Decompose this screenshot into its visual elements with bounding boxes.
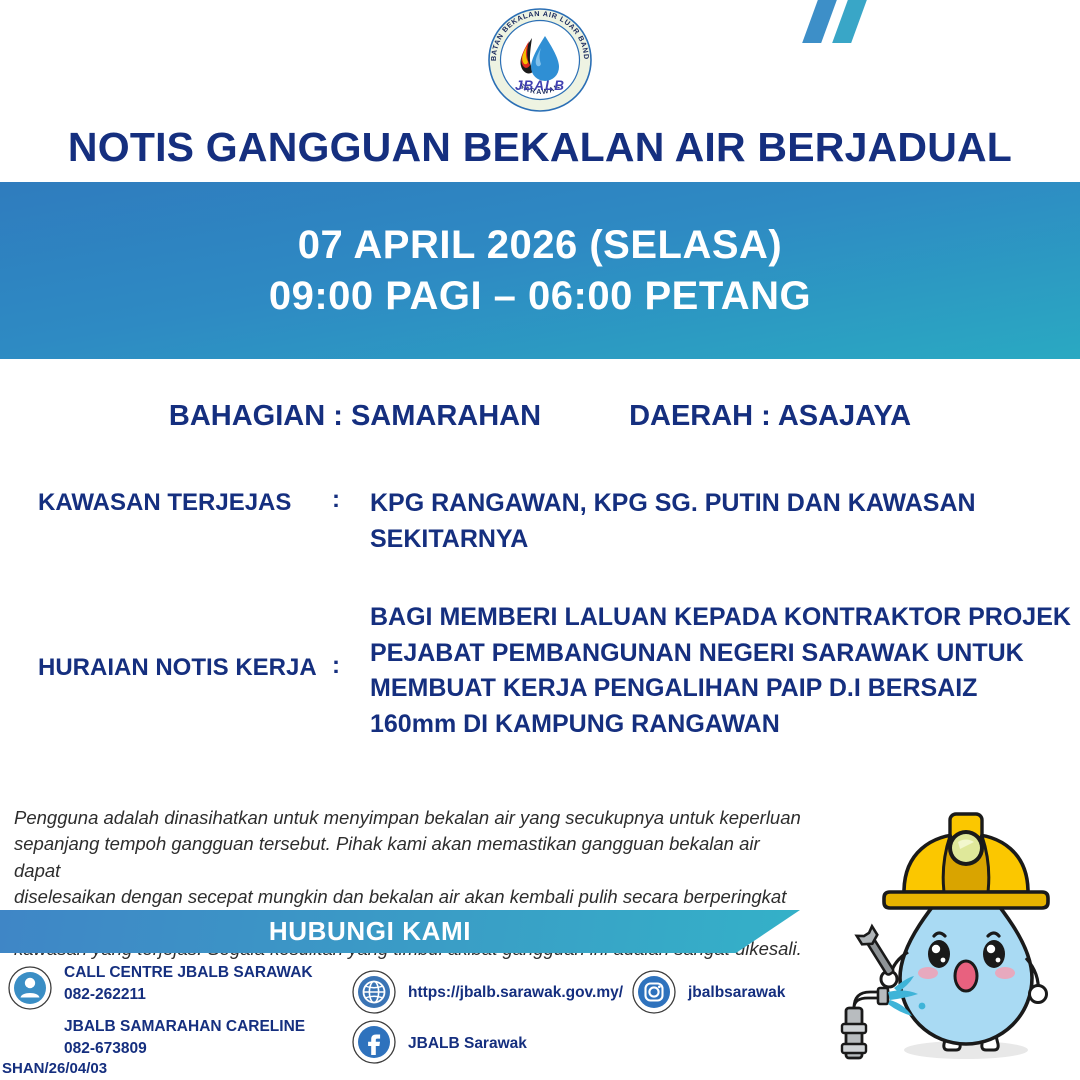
- notice-date: 07 APRIL 2026 (SELASA): [298, 223, 783, 268]
- instagram-icon[interactable]: [632, 970, 676, 1014]
- date-time-banner: 07 APRIL 2026 (SELASA) 09:00 PAGI – 06:0…: [0, 182, 1080, 359]
- water-droplet-worker-mascot: [838, 792, 1074, 1080]
- website-url[interactable]: https://jbalb.sarawak.gov.my/: [408, 982, 623, 1004]
- careline-name: JBALB SAMARAHAN CARELINE: [64, 1016, 305, 1038]
- affected-areas-line: KPG RANGAWAN, KPG SG. PUTIN DAN KAWASAN: [370, 486, 1048, 522]
- call-centre-phone[interactable]: 082-262211: [64, 984, 313, 1006]
- facebook-handle[interactable]: JBALB Sarawak: [408, 1033, 527, 1055]
- affected-areas-row: KAWASAN TERJEJAS : KPG RANGAWAN, KPG SG.…: [38, 486, 1048, 557]
- person-icon: [8, 966, 52, 1010]
- careline-phone[interactable]: 082-673809: [64, 1038, 305, 1060]
- district-label: DAERAH : ASAJAYA: [629, 400, 911, 433]
- page-title: NOTIS GANGGUAN BEKALAN AIR BERJADUAL: [0, 124, 1080, 171]
- work-description-row: HURAIAN NOTIS KERJA : BAGI MEMBERI LALUA…: [38, 600, 1048, 742]
- affected-areas-line: SEKITARNYA: [370, 522, 1048, 558]
- work-description-value: BAGI MEMBERI LALUAN KEPADA KONTRAKTOR PR…: [370, 600, 1071, 742]
- reference-code: SHAN/26/04/03: [2, 1058, 107, 1079]
- region-row: BAHAGIAN : SAMARAHAN DAERAH : ASAJAYA: [0, 400, 1080, 433]
- advisory-line: Pengguna adalah dinasihatkan untuk menyi…: [14, 805, 804, 831]
- affected-areas-value: KPG RANGAWAN, KPG SG. PUTIN DAN KAWASAN …: [370, 486, 1048, 557]
- notice-time: 09:00 PAGI – 06:00 PETANG: [269, 274, 811, 319]
- advisory-line: sepanjang tempoh gangguan tersebut. Piha…: [14, 831, 804, 884]
- globe-icon[interactable]: [352, 970, 396, 1014]
- work-description-line: PEJABAT PEMBANGUNAN NEGERI SARAWAK UNTUK: [370, 636, 1071, 672]
- facebook-icon[interactable]: [352, 1020, 396, 1064]
- work-description-line: 160mm DI KAMPUNG RANGAWAN: [370, 707, 1071, 743]
- contact-bar: HUBUNGI KAMI: [0, 910, 800, 953]
- logo-container: JABATAN BEKALAN AIR LUAR BANDAR SARAWAK …: [0, 8, 1080, 112]
- affected-areas-label: KAWASAN TERJEJAS: [38, 486, 332, 519]
- division-label: BAHAGIAN : SAMARAHAN: [169, 400, 541, 433]
- affected-areas-colon: :: [332, 486, 370, 514]
- svg-text:JBALB: JBALB: [515, 78, 565, 93]
- contact-bar-title: HUBUNGI KAMI: [0, 910, 740, 953]
- jbalb-water-droplet-logo: JABATAN BEKALAN AIR LUAR BANDAR SARAWAK …: [488, 8, 592, 112]
- work-description-line: MEMBUAT KERJA PENGALIHAN PAIP D.I BERSAI…: [370, 671, 1071, 707]
- work-description-label: HURAIAN NOTIS KERJA: [38, 600, 332, 684]
- instagram-handle[interactable]: jbalbsarawak: [688, 982, 785, 1004]
- work-description-line: BAGI MEMBERI LALUAN KEPADA KONTRAKTOR PR…: [370, 600, 1071, 636]
- work-description-colon: :: [332, 600, 370, 680]
- call-centre-block: CALL CENTRE JBALB SARAWAK 082-262211: [64, 962, 313, 1006]
- call-centre-name: CALL CENTRE JBALB SARAWAK: [64, 962, 313, 984]
- careline-block: JBALB SAMARAHAN CARELINE 082-673809: [64, 1016, 305, 1060]
